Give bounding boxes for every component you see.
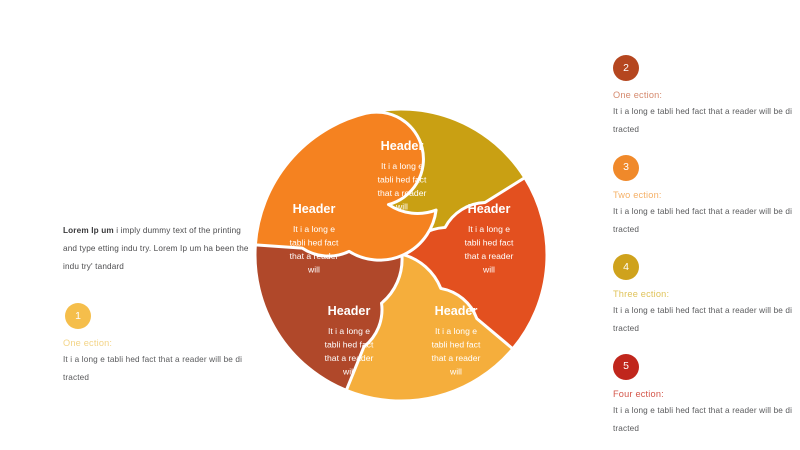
intro-block: Lorem Ip um i imply dummy text of the pr… xyxy=(63,222,253,276)
pinwheel-diagram: HeaderIt i a long etabli hed factthat a … xyxy=(252,106,550,404)
segment-body-line: It i a long e xyxy=(293,224,335,234)
list-item[interactable]: 4 Three ection: It i a long e tabli hed … xyxy=(613,254,793,338)
segment-orange[interactable] xyxy=(255,112,436,260)
list-item[interactable]: 1 One ection: It i a long e tabli hed fa… xyxy=(63,303,243,387)
step-badge-3: 3 xyxy=(613,155,639,181)
segment-body-line: will xyxy=(342,367,355,377)
list-item[interactable]: 3 Two ection: It i a long e tabli hed fa… xyxy=(613,155,793,239)
list-item[interactable]: 5 Four ection: It i a long e tabli hed f… xyxy=(613,354,793,438)
list-item-body: It i a long e tabli hed fact that a read… xyxy=(613,203,793,239)
segment-body-line: tabli hed fact xyxy=(465,238,514,248)
list-item-title: One ection: xyxy=(613,90,793,100)
segment-header: Header xyxy=(381,139,424,153)
segment-body-line: that a reader xyxy=(325,353,374,363)
segment-body-line: It i a long e xyxy=(328,326,370,336)
segment-header: Header xyxy=(328,304,371,318)
intro-paragraph: Lorem Ip um i imply dummy text of the pr… xyxy=(63,222,253,276)
segment-body-line: that a reader xyxy=(432,353,481,363)
segment-body-line: It i a long e xyxy=(381,161,423,171)
segment-body-line: It i a long e xyxy=(435,326,477,336)
list-item-body: It i a long e tabli hed fact that a read… xyxy=(613,302,793,338)
segment-body-line: It i a long e xyxy=(468,224,510,234)
steps-list: 2 One ection: It i a long e tabli hed fa… xyxy=(613,55,793,438)
segment-body-line: will xyxy=(395,202,408,212)
list-item-title: Four ection: xyxy=(613,389,793,399)
segment-body-line: will xyxy=(449,367,462,377)
pinwheel-svg: HeaderIt i a long etabli hed factthat a … xyxy=(252,106,550,404)
list-item[interactable]: 2 One ection: It i a long e tabli hed fa… xyxy=(613,55,793,139)
step-badge-5: 5 xyxy=(613,354,639,380)
list-item-title: Three ection: xyxy=(613,289,793,299)
segment-header: Header xyxy=(435,304,478,318)
list-item-body: It i a long e tabli hed fact that a read… xyxy=(613,103,793,139)
segment-body-line: will xyxy=(482,265,495,275)
segment-body-line: that a reader xyxy=(290,251,339,261)
list-item-title: Two ection: xyxy=(613,190,793,200)
segment-body-line: tabli hed fact xyxy=(290,238,339,248)
segment-body-line: that a reader xyxy=(378,188,427,198)
step-badge-4: 4 xyxy=(613,254,639,280)
step-badge-2: 2 xyxy=(613,55,639,81)
step-badge-1: 1 xyxy=(65,303,91,329)
segment-body-line: tabli hed fact xyxy=(325,340,374,350)
segment-body-line: tabli hed fact xyxy=(432,340,481,350)
segment-body-line: tabli hed fact xyxy=(378,175,427,185)
list-item-body: It i a long e tabli hed fact that a read… xyxy=(613,402,793,438)
intro-lead: Lorem Ip um xyxy=(63,226,114,235)
segment-header: Header xyxy=(293,202,336,216)
segment-body-line: will xyxy=(307,265,320,275)
segment-header: Header xyxy=(468,202,511,216)
list-item-title: One ection: xyxy=(63,338,243,348)
list-item-body: It i a long e tabli hed fact that a read… xyxy=(63,351,243,387)
segment-body-line: that a reader xyxy=(465,251,514,261)
